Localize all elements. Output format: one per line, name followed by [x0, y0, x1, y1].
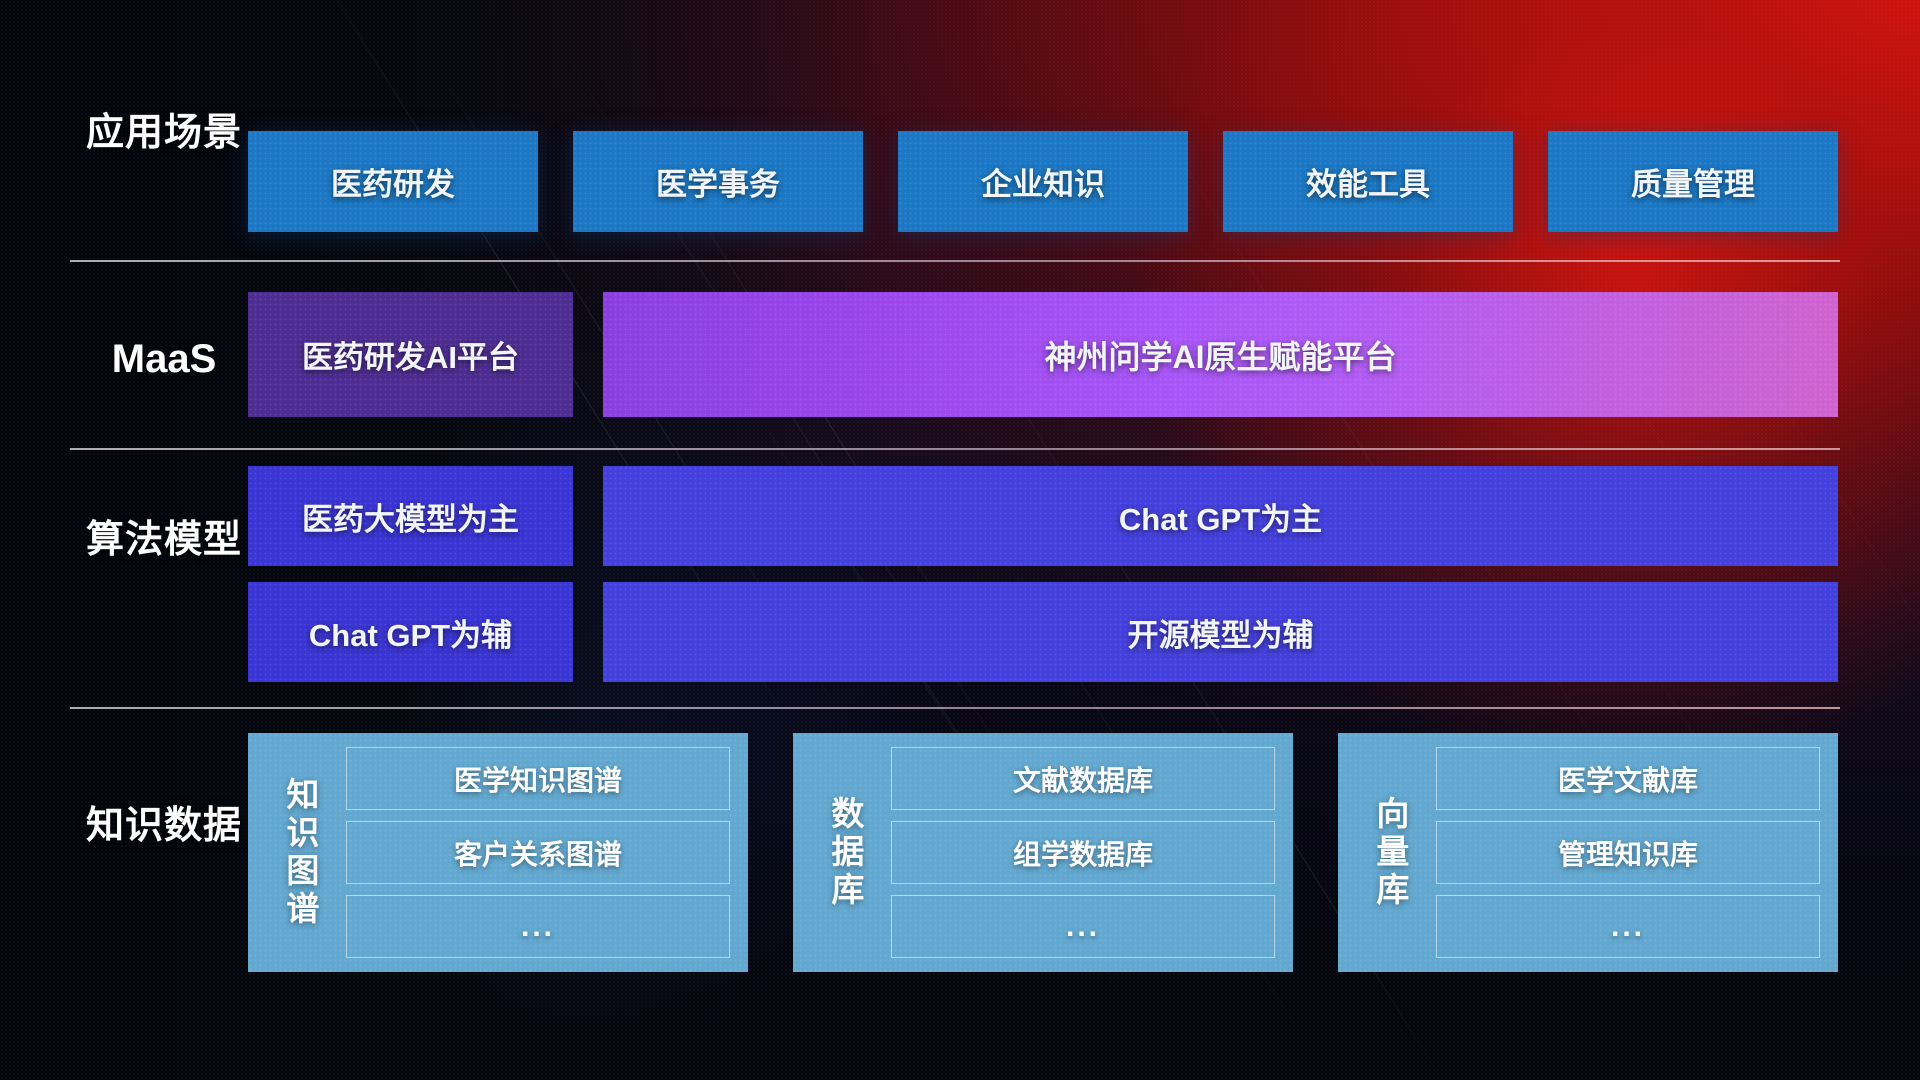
knowledge-item-management-knowledge-library[interactable]: 管理知识库	[1436, 821, 1820, 884]
knowledge-item-medical-knowledge-graph[interactable]: 医学知识图谱	[346, 747, 730, 810]
row-label-knowledge-data: 知识数据	[74, 805, 254, 848]
knowledge-item-customer-relation-graph[interactable]: 客户关系图谱	[346, 821, 730, 884]
app-box-enterprise-knowledge[interactable]: 企业知识	[898, 131, 1188, 232]
app-box-efficiency-tools[interactable]: 效能工具	[1223, 131, 1513, 232]
algo-box-chatgpt-secondary-label: Chat GPT为辅	[309, 610, 512, 655]
divider-application-maas	[70, 260, 1840, 262]
algo-box-chatgpt-secondary[interactable]: Chat GPT为辅	[248, 582, 573, 682]
knowledge-item-more-ellipsis[interactable]: ...	[346, 895, 730, 958]
algo-box-pharma-llm-primary[interactable]: 医药大模型为主	[248, 466, 573, 566]
knowledge-group-vector-database[interactable]: 向量库 医学文献库 管理知识库 ...	[1338, 733, 1838, 972]
knowledge-group-database[interactable]: 数据库 文献数据库 组学数据库 ...	[793, 733, 1293, 972]
knowledge-group-knowledge-graph-items: 医学知识图谱 客户关系图谱 ...	[336, 747, 730, 958]
knowledge-item-medical-literature-library[interactable]: 医学文献库	[1436, 747, 1820, 810]
maas-box-drug-rd-ai-platform[interactable]: 医药研发AI平台	[248, 292, 573, 417]
row-label-application-scenarios: 应用场景	[74, 112, 254, 155]
app-box-medical-affairs-label: 医学事务	[656, 159, 780, 204]
algo-box-opensource-secondary[interactable]: 开源模型为辅	[603, 582, 1838, 682]
maas-box-shenzhou-wenxue-platform[interactable]: 神州问学AI原生赋能平台	[603, 292, 1838, 417]
app-box-efficiency-tools-label: 效能工具	[1306, 159, 1430, 204]
knowledge-group-vector-database-vertical-label: 向量库	[1354, 747, 1426, 958]
knowledge-item-database-more-ellipsis[interactable]: ...	[891, 895, 1275, 958]
knowledge-group-vector-database-items: 医学文献库 管理知识库 ...	[1426, 747, 1820, 958]
algo-box-chatgpt-primary-label: Chat GPT为主	[1119, 494, 1322, 539]
knowledge-item-literature-database[interactable]: 文献数据库	[891, 747, 1275, 810]
divider-algorithm-knowledge	[70, 707, 1840, 709]
algo-box-pharma-llm-primary-label: 医药大模型为主	[302, 494, 519, 539]
architecture-diagram: 应用场景 医药研发 医学事务 企业知识 效能工具 质量管理 MaaS 医药研发A…	[0, 0, 1920, 1080]
knowledge-item-omics-database[interactable]: 组学数据库	[891, 821, 1275, 884]
app-box-medical-affairs[interactable]: 医学事务	[573, 131, 863, 232]
knowledge-group-knowledge-graph[interactable]: 知识图谱 医学知识图谱 客户关系图谱 ...	[248, 733, 748, 972]
divider-maas-algorithm	[70, 448, 1840, 450]
maas-box-drug-rd-ai-platform-label: 医药研发AI平台	[302, 332, 519, 377]
row-label-algorithm-model: 算法模型	[74, 519, 254, 562]
app-box-drug-rd-label: 医药研发	[331, 159, 455, 204]
knowledge-item-vector-more-ellipsis[interactable]: ...	[1436, 895, 1820, 958]
algo-box-chatgpt-primary[interactable]: Chat GPT为主	[603, 466, 1838, 566]
app-box-drug-rd[interactable]: 医药研发	[248, 131, 538, 232]
app-box-enterprise-knowledge-label: 企业知识	[981, 159, 1105, 204]
knowledge-group-database-items: 文献数据库 组学数据库 ...	[881, 747, 1275, 958]
knowledge-group-database-vertical-label: 数据库	[809, 747, 881, 958]
app-box-quality-management[interactable]: 质量管理	[1548, 131, 1838, 232]
row-label-maas: MaaS	[74, 337, 254, 383]
app-box-quality-management-label: 质量管理	[1631, 159, 1755, 204]
algo-box-opensource-secondary-label: 开源模型为辅	[1128, 610, 1314, 655]
maas-box-shenzhou-wenxue-platform-label: 神州问学AI原生赋能平台	[1044, 332, 1396, 378]
knowledge-group-knowledge-graph-vertical-label: 知识图谱	[264, 747, 336, 958]
